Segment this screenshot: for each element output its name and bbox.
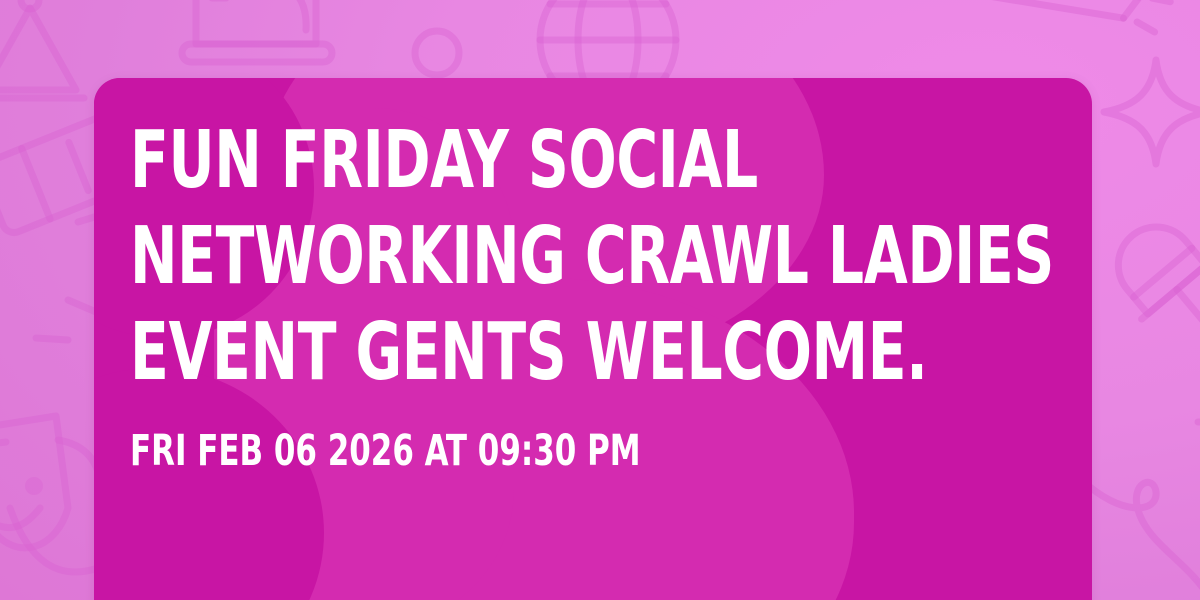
event-title: FUN FRIDAY SOCIAL NETWORKING CRAWL LADIE… [130,112,1062,400]
event-card: FUN FRIDAY SOCIAL NETWORKING CRAWL LADIE… [94,78,1092,600]
event-banner: FUN FRIDAY SOCIAL NETWORKING CRAWL LADIE… [0,0,1200,600]
sparkle-icon [1108,52,1200,172]
microphone-icon [1112,200,1200,360]
swirl-line-icon [1080,452,1200,600]
event-date: FRI FEB 06 2026 AT 09:30 PM [130,426,1062,476]
card-content: FUN FRIDAY SOCIAL NETWORKING CRAWL LADIE… [130,112,1062,476]
